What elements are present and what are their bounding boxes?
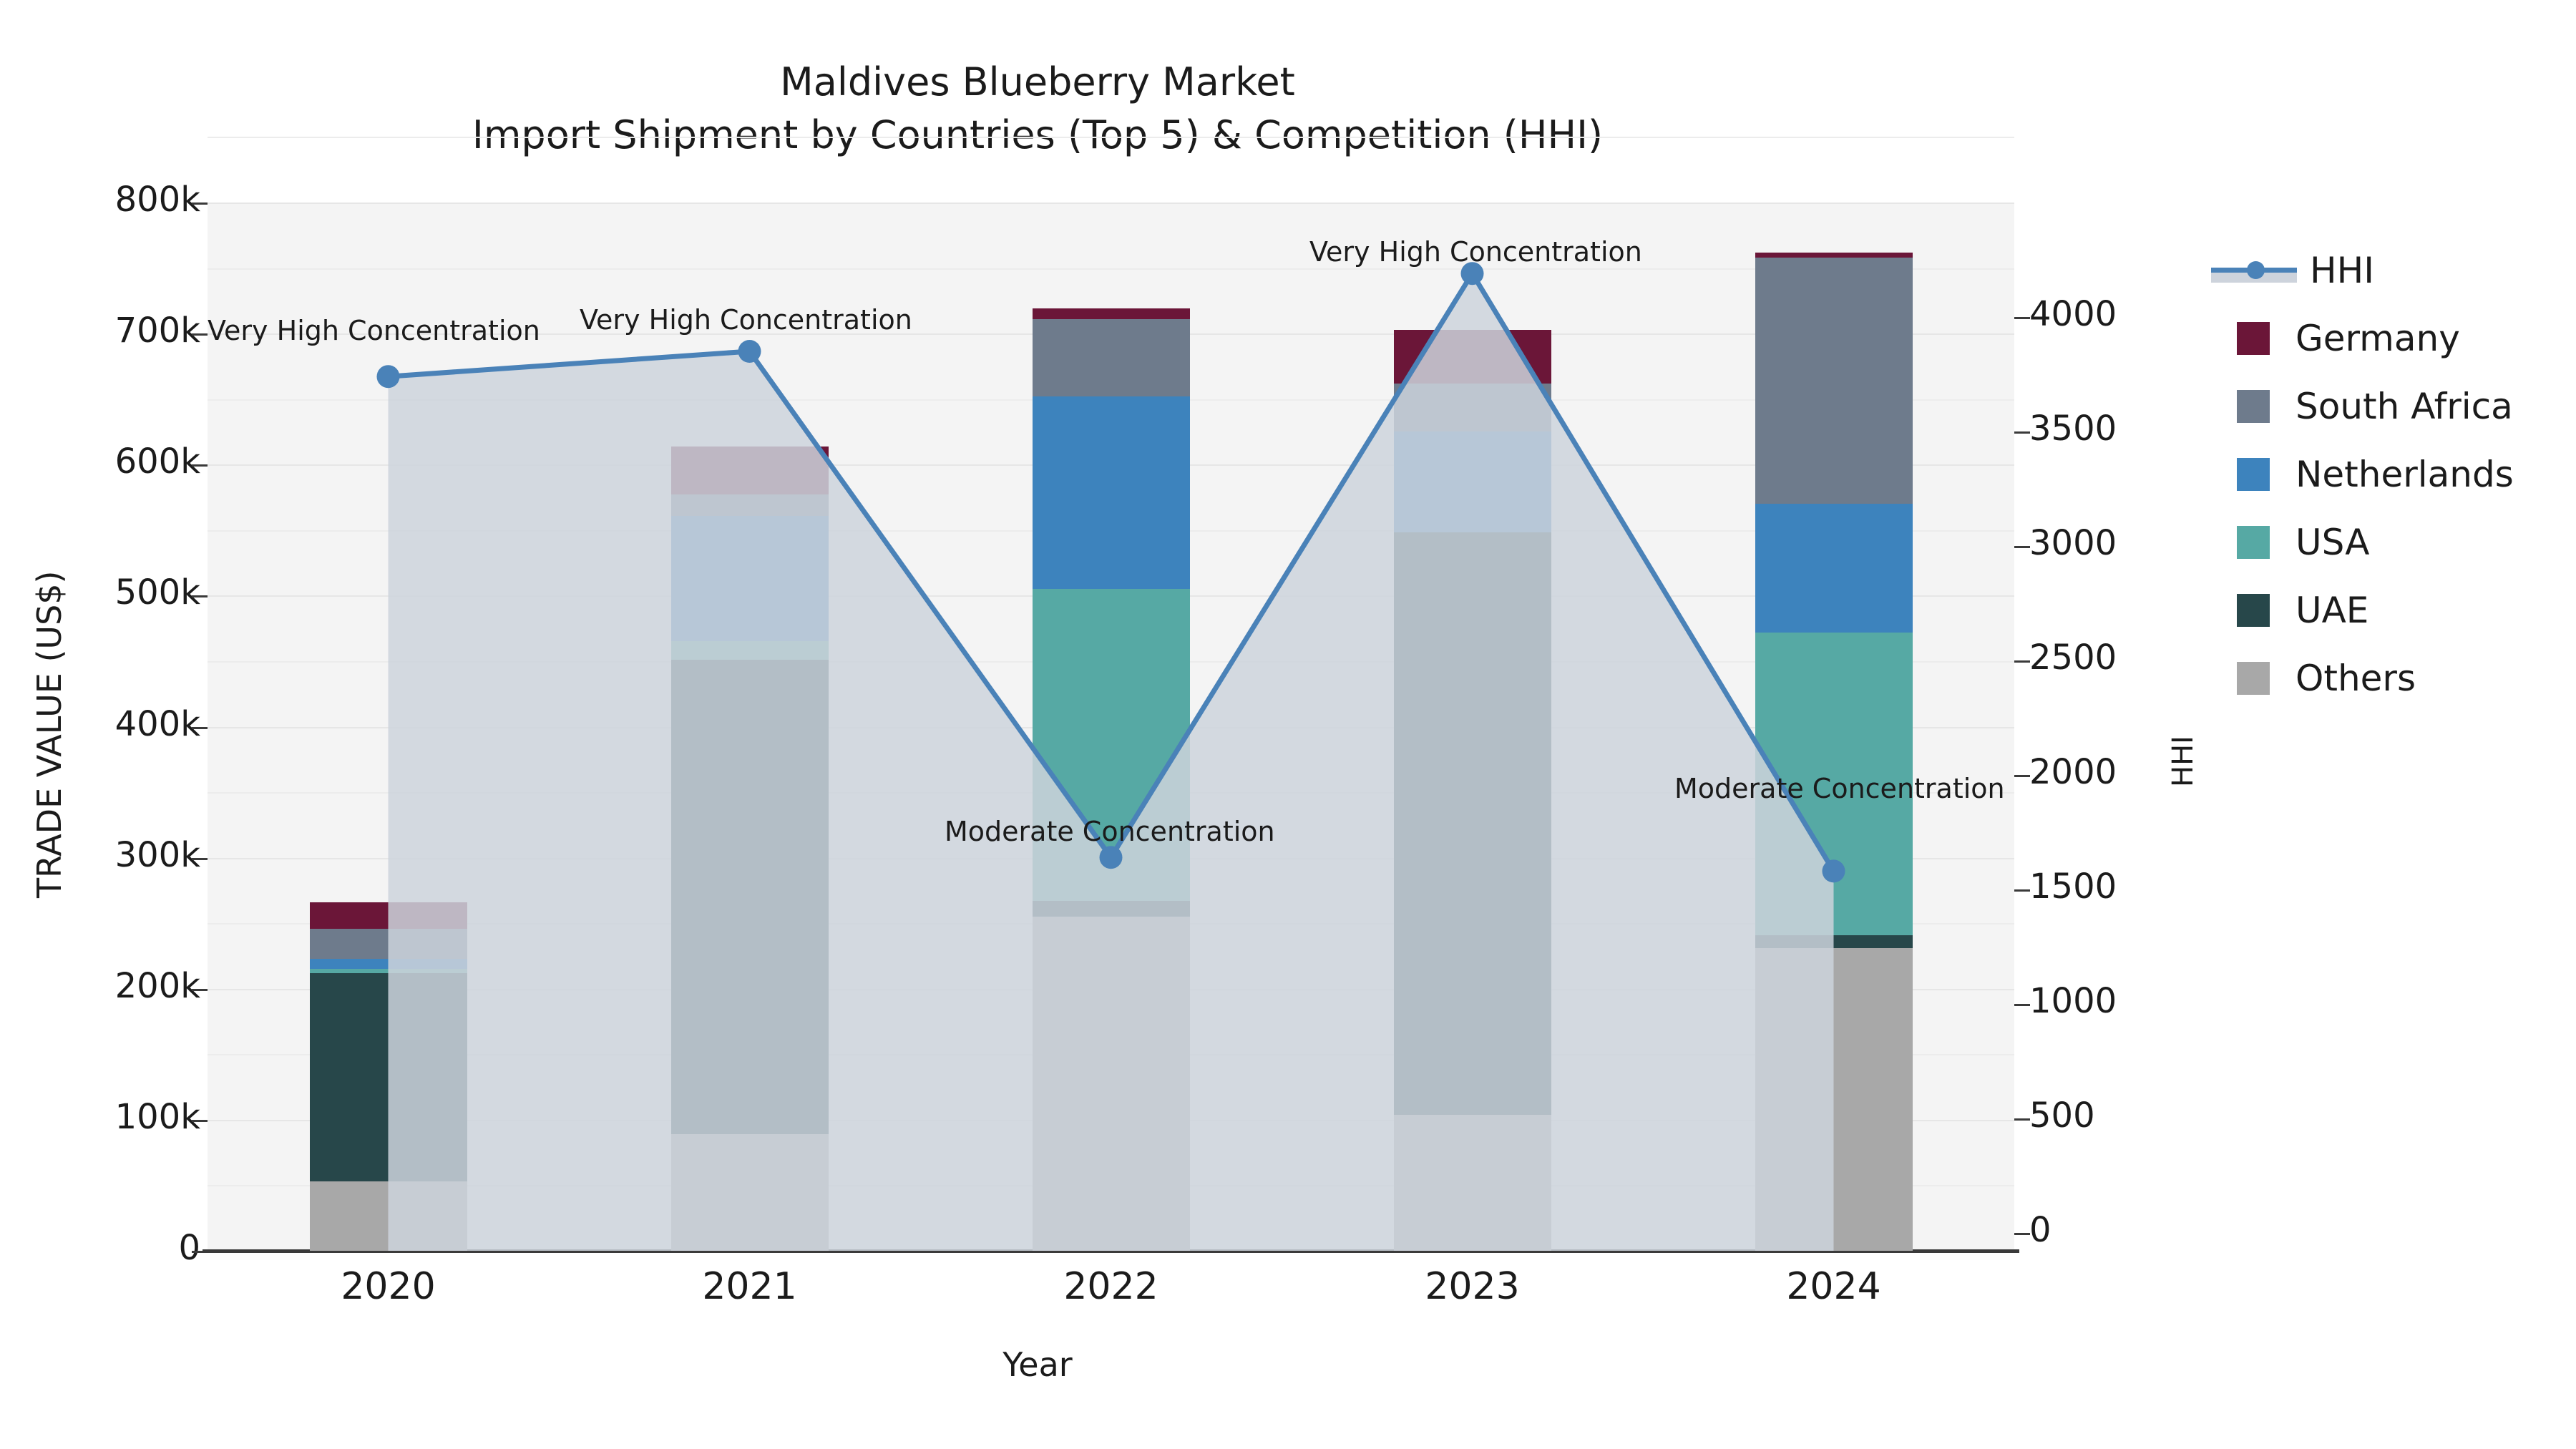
bar-segment xyxy=(1394,532,1551,1114)
legend-swatch-icon xyxy=(2237,390,2270,423)
gridline xyxy=(208,203,2014,204)
y-tick-mark-left xyxy=(192,858,208,860)
y-tick-label-right: 0 xyxy=(2029,1210,2201,1250)
bar-segment xyxy=(310,959,467,970)
legend-item-germany[interactable]: Germany xyxy=(2211,304,2569,372)
y-tick-label-right: 4000 xyxy=(2029,294,2201,334)
bar-segment xyxy=(1755,253,1913,258)
x-axis-label: Year xyxy=(0,1345,2075,1384)
y-tick-label-right: 3000 xyxy=(2029,523,2201,563)
bar-segment xyxy=(1755,935,1913,948)
y-tick-label-right: 500 xyxy=(2029,1096,2201,1136)
chart-title: Maldives Blueberry Market Import Shipmen… xyxy=(0,56,2075,162)
y-tick-label-left: 200k xyxy=(29,966,200,1006)
legend-item-label: Germany xyxy=(2296,318,2460,359)
legend-item-usa[interactable]: USA xyxy=(2211,508,2569,576)
x-tick-label: 2020 xyxy=(245,1265,532,1308)
y-tick-label-right: 1000 xyxy=(2029,981,2201,1021)
legend-line-icon xyxy=(2211,254,2297,287)
bar-segment xyxy=(310,969,467,972)
y-tick-label-right: 2000 xyxy=(2029,752,2201,792)
legend-swatch-icon xyxy=(2237,526,2270,559)
bar-segment xyxy=(671,447,829,495)
x-tick-label: 2022 xyxy=(968,1265,1254,1308)
y-tick-mark-right xyxy=(2014,660,2030,663)
y-tick-mark-right xyxy=(2014,775,2030,777)
hhi-annotation-label: Very High Concentration xyxy=(1309,236,1642,268)
bar-segment xyxy=(1394,431,1551,532)
y-tick-label-left: 400k xyxy=(29,704,200,744)
y-tick-label-right: 3500 xyxy=(2029,409,2201,449)
title-line-2: Import Shipment by Countries (Top 5) & C… xyxy=(0,109,2075,162)
y-tick-mark-right xyxy=(2014,889,2030,892)
bar-segment xyxy=(1033,901,1190,917)
bar-segment xyxy=(1394,330,1551,384)
y-tick-label-right: 1500 xyxy=(2029,867,2201,907)
legend-swatch-icon xyxy=(2237,662,2270,695)
legend-swatch-icon xyxy=(2237,458,2270,491)
hhi-annotation-label: Moderate Concentration xyxy=(1674,773,2005,804)
y-tick-label-left: 700k xyxy=(29,311,200,351)
bar-segment xyxy=(310,973,467,1181)
legend-swatch-icon xyxy=(2237,594,2270,627)
legend-item-hhi[interactable]: HHI xyxy=(2211,236,2569,304)
y-tick-mark-left xyxy=(192,464,208,467)
y-tick-label-left: 100k xyxy=(29,1097,200,1137)
y-tick-mark-left xyxy=(192,595,208,597)
hhi-annotation-label: Very High Concentration xyxy=(208,315,540,346)
y-tick-mark-left xyxy=(192,1251,208,1253)
bar-segment xyxy=(671,494,829,515)
y-tick-mark-right xyxy=(2014,546,2030,548)
bar-segment xyxy=(310,902,467,929)
bar-segment xyxy=(671,660,829,1134)
bar-segment xyxy=(1755,948,1913,1251)
bar-segment xyxy=(310,929,467,959)
y-tick-mark-right xyxy=(2014,431,2030,434)
y-tick-label-left: 600k xyxy=(29,441,200,482)
chart-root: Maldives Blueberry Market Import Shipmen… xyxy=(0,0,2576,1449)
bar-segment xyxy=(1394,384,1551,432)
legend-swatch-icon xyxy=(2237,322,2270,355)
y-tick-mark-left xyxy=(192,333,208,336)
bar-segment xyxy=(671,1134,829,1251)
bar-segment xyxy=(1033,319,1190,396)
x-tick-label: 2021 xyxy=(607,1265,893,1308)
title-line-1: Maldives Blueberry Market xyxy=(0,56,2075,109)
legend-item-label: Others xyxy=(2296,658,2416,699)
bar-segment xyxy=(671,641,829,660)
legend-item-label: Netherlands xyxy=(2296,454,2514,495)
bar-segment xyxy=(1033,396,1190,589)
bar-segment xyxy=(1033,917,1190,1251)
y-tick-label-left: 0 xyxy=(29,1228,200,1268)
y-tick-mark-left xyxy=(192,989,208,991)
bar-segment xyxy=(310,1181,467,1251)
y-tick-label-left: 500k xyxy=(29,572,200,613)
y-tick-mark-left xyxy=(192,1120,208,1122)
y-tick-mark-left xyxy=(192,727,208,729)
legend-item-label: UAE xyxy=(2296,590,2368,631)
legend-item-netherlands[interactable]: Netherlands xyxy=(2211,440,2569,508)
y-tick-mark-left xyxy=(192,203,208,205)
y-tick-label-right: 2500 xyxy=(2029,638,2201,678)
bar-segment xyxy=(1755,258,1913,504)
y-tick-mark-right xyxy=(2014,1118,2030,1121)
x-tick-label: 2023 xyxy=(1330,1265,1616,1308)
y-tick-mark-right xyxy=(2014,1004,2030,1006)
hhi-annotation-label: Moderate Concentration xyxy=(945,816,1275,847)
legend-item-others[interactable]: Others xyxy=(2211,644,2569,712)
y-tick-label-left: 300k xyxy=(29,835,200,875)
x-tick-label: 2024 xyxy=(1691,1265,1977,1308)
y-tick-mark-right xyxy=(2014,317,2030,319)
bar-segment xyxy=(1033,308,1190,319)
legend-item-label: USA xyxy=(2296,522,2369,563)
legend-item-south-africa[interactable]: South Africa xyxy=(2211,372,2569,440)
gridline-minor xyxy=(208,268,2014,270)
gridline-minor xyxy=(208,137,2014,138)
y-tick-label-left: 800k xyxy=(29,180,200,220)
bar-segment xyxy=(1394,1115,1551,1251)
bar-segment xyxy=(671,516,829,642)
legend-item-uae[interactable]: UAE xyxy=(2211,576,2569,644)
chart-legend: HHIGermanySouth AfricaNetherlandsUSAUAEO… xyxy=(2211,236,2569,712)
bar-segment xyxy=(1755,504,1913,632)
bar-segment xyxy=(1033,589,1190,901)
legend-item-label: South Africa xyxy=(2296,386,2513,427)
y-tick-mark-right xyxy=(2014,1233,2030,1235)
legend-item-label: HHI xyxy=(2310,250,2374,291)
hhi-annotation-label: Very High Concentration xyxy=(580,304,912,336)
